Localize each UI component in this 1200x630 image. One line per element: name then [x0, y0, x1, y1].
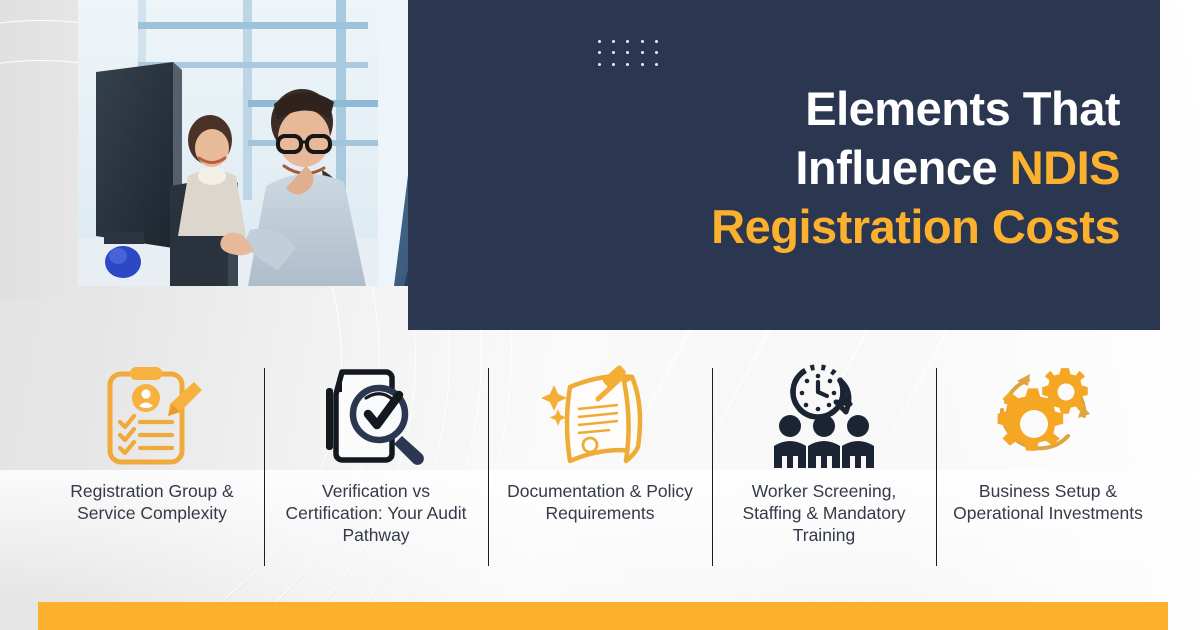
certificate-gavel-sparkle-icon	[542, 358, 658, 476]
feature-card-label: Worker Screening, Staffing & Mandatory T…	[729, 480, 919, 546]
feature-card[interactable]: Registration Group & Service Complexity	[40, 358, 264, 570]
infographic-canvas: Elements That Influence NDIS Registratio…	[0, 0, 1200, 630]
feature-card[interactable]: Verification vs Certification: Your Audi…	[264, 358, 488, 570]
feature-card[interactable]: Business Setup & Operational Investments	[936, 358, 1160, 570]
dot-grid-decoration	[592, 36, 664, 70]
title-line-1-text: Elements That	[805, 82, 1120, 135]
two-gears-cycle-arrows-icon	[990, 358, 1106, 476]
clock-arrow-three-people-icon	[766, 358, 882, 476]
feature-card-row: Registration Group & Service Complexity …	[40, 358, 1160, 570]
document-magnifier-checkmark-icon	[322, 358, 430, 476]
title-line-3: Registration Costs	[460, 198, 1120, 257]
feature-card[interactable]: Worker Screening, Staffing & Mandatory T…	[712, 358, 936, 570]
page-title: Elements That Influence NDIS Registratio…	[460, 80, 1120, 256]
orange-footer-bar	[38, 602, 1168, 630]
title-line-3-accent: Registration Costs	[711, 200, 1120, 253]
title-line-2-plain: Influence	[795, 141, 1009, 194]
feature-card-label: Documentation & Policy Requirements	[505, 480, 695, 524]
clipboard-person-checklist-pencil-icon	[100, 358, 204, 476]
title-line-2: Influence NDIS	[460, 139, 1120, 198]
title-line-1: Elements That	[460, 80, 1120, 139]
title-line-2-accent: NDIS	[1010, 141, 1120, 194]
feature-card-label: Verification vs Certification: Your Audi…	[281, 480, 471, 546]
feature-card-label: Business Setup & Operational Investments	[953, 480, 1143, 524]
feature-card[interactable]: Documentation & Policy Requirements	[488, 358, 712, 570]
feature-card-label: Registration Group & Service Complexity	[57, 480, 247, 524]
